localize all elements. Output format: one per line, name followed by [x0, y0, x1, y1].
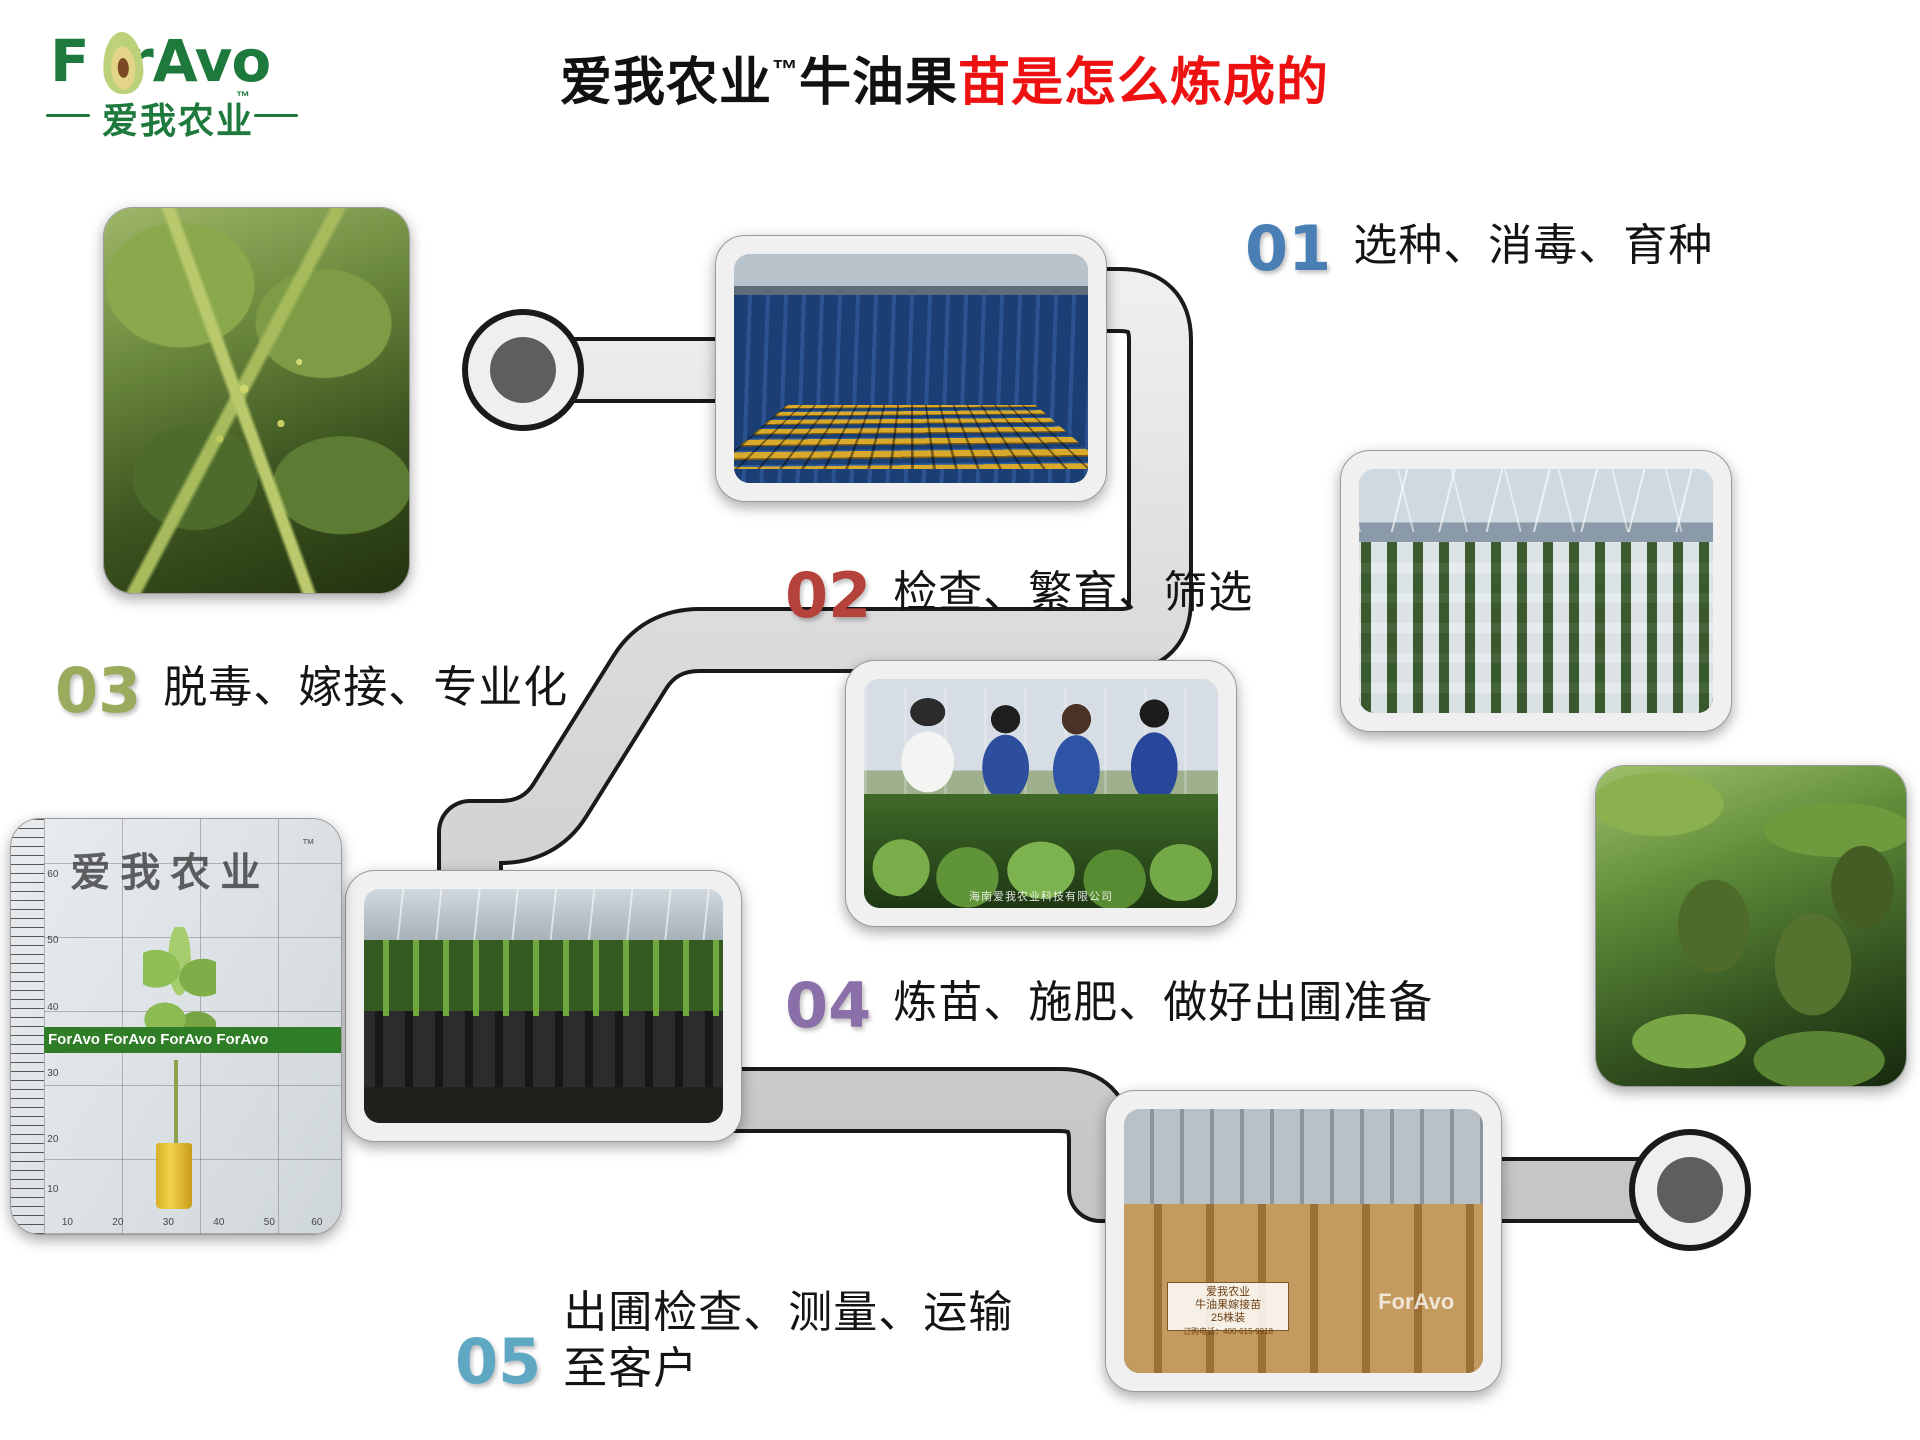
- seedling-pot: [156, 1143, 192, 1209]
- axis-label-20: 20: [112, 1217, 123, 1228]
- carton-label-line3: 25株装: [1168, 1312, 1288, 1325]
- step-text-02: 检查、繁育、筛选: [893, 565, 1253, 621]
- measuring-scale-labels: 60 50 40 30 20 10: [47, 819, 73, 1234]
- scale-label-50: 50: [47, 935, 58, 946]
- seedling-on-measuring-board-image: 爱我农业 ™ ForAvo ForAvo ForAvo ForAvo 60 50…: [11, 819, 341, 1234]
- avocado-flowering-branch-image: [104, 208, 409, 593]
- photo-card-step-02: [1340, 450, 1732, 732]
- scale-label-30: 30: [47, 1068, 58, 1079]
- photo-frame-step-02: [1359, 469, 1713, 713]
- axis-label-30: 30: [163, 1217, 174, 1228]
- step-label-03: 03 脱毒、嫁接、专业化: [55, 660, 568, 722]
- path-end-knob: [1657, 1157, 1723, 1223]
- step-number-05: 05: [455, 1331, 541, 1393]
- carton-brand-mark: ForAvo: [1378, 1289, 1454, 1315]
- step-number-02: 02: [785, 565, 871, 627]
- seedling-foliage: [143, 927, 216, 1076]
- axis-label-40: 40: [213, 1217, 224, 1228]
- step-text-01: 选种、消毒、育种: [1353, 218, 1713, 274]
- seedling-stem: [174, 1060, 178, 1151]
- measuring-axis-labels: 10 20 30 40 50 60: [44, 1217, 341, 1231]
- step-text-04: 炼苗、施肥、做好出圃准备: [893, 975, 1433, 1031]
- photo-frame-step-03: 海南爱我农业科技有限公司: [864, 679, 1218, 908]
- photo-card-measuring-board: 爱我农业 ™ ForAvo ForAvo ForAvo ForAvo 60 50…: [10, 818, 342, 1235]
- step-label-01: 01 选种、消毒、育种: [1245, 218, 1713, 280]
- axis-label-10: 10: [62, 1217, 73, 1228]
- photo-card-step-04: [345, 870, 742, 1142]
- step-number-01: 01: [1245, 218, 1331, 280]
- avocados-on-tree-image: [1596, 766, 1906, 1086]
- cartons-ready-for-shipping-image: 爱我农业 牛油果嫁接苗 25株装 订购电话：400-615-9918 ForAv…: [1124, 1109, 1483, 1373]
- axis-label-60: 60: [311, 1217, 322, 1228]
- carton-label-line1: 爱我农业: [1168, 1286, 1288, 1299]
- photo-card-flowering-branch: [103, 207, 410, 594]
- potted-seedling-rows-image: [364, 889, 723, 1123]
- photo-frame-step-04: [364, 889, 723, 1123]
- scale-label-60: 60: [47, 869, 58, 880]
- step-label-02: 02 检查、繁育、筛选: [785, 565, 1253, 627]
- axis-label-50: 50: [264, 1217, 275, 1228]
- step-text-05-line2: 至客户: [563, 1341, 1013, 1397]
- carton-label-line2: 牛油果嫁接苗: [1168, 1299, 1288, 1312]
- photo-card-step-03: 海南爱我农业科技有限公司: [845, 660, 1237, 927]
- greenhouse-bagged-plants-image: [1359, 469, 1713, 713]
- scale-label-20: 20: [47, 1134, 58, 1145]
- step-text-05: 出圃检查、测量、运输 至客户: [563, 1285, 1013, 1397]
- path-start-knob: [490, 337, 556, 403]
- scale-label-10: 10: [47, 1184, 58, 1195]
- step-text-03: 脱毒、嫁接、专业化: [163, 660, 568, 716]
- measuring-brand-band: ForAvo ForAvo ForAvo ForAvo: [44, 1027, 341, 1053]
- measuring-watermark: 爱我农业: [70, 840, 270, 898]
- carton-label: 爱我农业 牛油果嫁接苗 25株装 订购电话：400-615-9918: [1167, 1282, 1289, 1331]
- measuring-watermark-tm: ™: [302, 836, 315, 851]
- step-label-05: 05 出圃检查、测量、运输 至客户: [455, 1285, 1013, 1393]
- photo-card-fruit-on-tree: [1595, 765, 1907, 1087]
- scale-label-40: 40: [47, 1002, 58, 1013]
- step-label-04: 04 炼苗、施肥、做好出圃准备: [785, 975, 1433, 1037]
- photo-card-step-01: [715, 235, 1107, 502]
- step-text-05-line1: 出圃检查、测量、运输: [563, 1285, 1013, 1341]
- photo-frame-step-01: [734, 254, 1088, 483]
- ruler-ticks: [11, 819, 44, 1234]
- carton-label-line4: 订购电话：400-615-9918: [1168, 1325, 1288, 1338]
- step-number-04: 04: [785, 975, 871, 1037]
- inspection-photo-watermark: 海南爱我农业科技有限公司: [864, 888, 1218, 904]
- photo-card-step-05: 爱我农业 牛油果嫁接苗 25株装 订购电话：400-615-9918 ForAv…: [1105, 1090, 1502, 1392]
- photo-frame-step-05: 爱我农业 牛油果嫁接苗 25株装 订购电话：400-615-9918 ForAv…: [1124, 1109, 1483, 1373]
- staff-inspecting-seedlings-image: [864, 679, 1218, 908]
- infographic-canvas: ForAvo 爱我农业 ™ 爱我农业™牛油果苗是怎么炼成的: [0, 0, 1920, 1440]
- step-number-03: 03: [55, 660, 141, 722]
- greenhouse-seed-trays-image: [734, 254, 1088, 483]
